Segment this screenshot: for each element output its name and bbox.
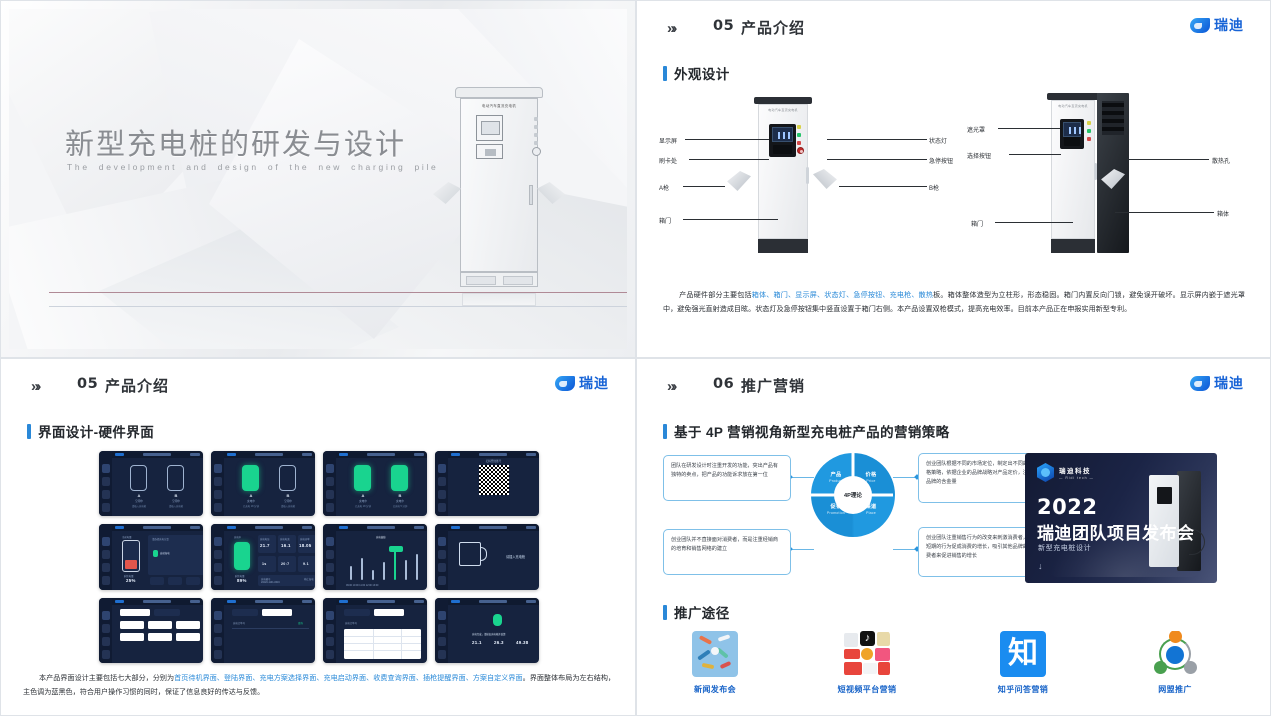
auto-fill-label: 自动充电 [160,551,170,555]
chevrons-icon: »› [667,20,674,37]
section-title: 产品介绍 [741,17,805,38]
poster-logo-mark-icon [1037,463,1054,482]
channel-label: 短视频平台营销 [811,684,923,695]
slide-product-appearance[interactable]: »› 05 产品介绍 瑞迪 外观设计 电动汽车直流充电机 显示屏 [636,0,1271,358]
strategy-box-promotion: 创业团队并不直接面对消费者，而是注重经销商的培育和销售网络的建立 [663,529,791,575]
product-angled-view: 电动汽车直流充电机 [1047,93,1099,253]
gun-a-icon [725,171,751,191]
channel-label: 新闻发布会 [659,684,771,695]
quadrant-place: 渠道 Place [856,505,886,515]
chevrons-icon: »› [31,378,38,395]
label-status-light: 状态灯 [929,136,947,145]
news-conference-icon [692,631,738,677]
section-number: 05 [713,18,734,34]
leader-line [683,186,725,187]
label-emergency-stop: 急停按钮 [929,156,953,165]
poster-brand-en: — Ridi tech — [1059,476,1094,480]
mockup-charging-metrics: 充电中 剩余电量 89% 充电电压 充电电流 充电功率 21.7 16.1 18… [211,524,315,589]
label-cabinet-door-right: 箱门 [971,219,983,228]
mockup-idle-home: A B 空闲中空闲中 请插入充电枪请插入充电枪 [99,451,203,516]
four-p-donut-chart: 产品 Product 价格 Price 促销 Promotion 渠道 Plac… [811,453,895,537]
mockup-plug-reminder: 请插入充电枪 [435,524,539,589]
device-label: 电动汽车直流充电机 [754,108,812,112]
zhihu-icon: 知 [1000,631,1046,677]
heading-accent-bar [663,66,667,81]
heading-accent-bar [663,424,667,439]
leader-line [1115,212,1214,213]
summary-1: 21.1 [472,640,482,645]
mockup-charge-complete: 充电完成，请拔出充电枪并结算 21.1 26.3 49.38 [435,598,539,663]
mockup-dual-charging: AB 充电中充电中 已充电 18 分钟已充电 5 分钟 [323,451,427,516]
event-poster[interactable]: 瑞迪科技 — Ridi tech — 2022 瑞迪团队项目发布会 新型充电桩设… [1025,453,1217,583]
poster-year: 2022 [1037,495,1097,519]
heading-text: 外观设计 [674,63,730,83]
logo-mark-icon [555,376,575,391]
logo-text: 瑞迪 [1214,15,1244,35]
ad-network-icon [1152,631,1198,677]
leader-line [1009,154,1061,155]
slide-paragraph: 产品硬件部分主要包括箱体、箱门、显示屏、状态灯、急停按钮、充电枪、散热板。箱体整… [663,289,1245,317]
leader-line [827,159,927,160]
heat-vent-icon [1102,101,1124,135]
strategy-box-product: 团队在研发设计时注重开发的功能，突出产品有独特的卖点，把产品的功能诉求放在第一位 [663,455,791,501]
mockup-charging-chart: 充电曲线 09:00 10:00 11:00 12:00 13:00 [323,524,427,589]
section-title: 产品介绍 [105,375,169,396]
label-select-button: 选择按钮 [967,151,991,160]
slide-header: »› 05 产品介绍 瑞迪 [1,359,635,405]
poster-subline: 新型充电桩设计 [1038,543,1091,553]
paragraph-highlight: 箱体、箱门、显示屏、状态灯、急停按钮、充电枪、散热 [752,291,933,299]
label-cabinet-door-left: 箱门 [659,216,671,225]
charging-nozzle-icon [459,542,481,566]
short-video-platforms-icon: ♪ [844,631,890,677]
summary-2: 26.3 [494,640,504,645]
label-sun-shield: 遮光罩 [967,125,985,134]
heading-accent-bar [663,605,667,620]
gun-b-label: B [165,493,187,498]
poster-headline: 瑞迪团队项目发布会 [1037,519,1195,544]
slide-title[interactable]: 新型充电桩的研发与设计 The development and design o… [0,0,636,358]
gun-icon [1099,169,1125,189]
page-subtitle: The development and design of the new ch… [67,162,438,172]
quadrant-price: 价格 Price [856,473,886,483]
summary-3: 49.38 [516,640,529,645]
leader-line [1127,159,1209,160]
leader-line [995,222,1073,223]
brand-logo: 瑞迪 [1190,373,1244,393]
slide-ui-design[interactable]: »› 05 产品介绍 瑞迪 界面设计-硬件界面 A B [0,358,636,716]
section-heading-strategy: 基于 4P 营销视角新型充电桩产品的营销策略 [663,421,950,441]
mockup-battery-status: 当前电量 剩余电量 25% 请选择充电方案 自动充电 [99,524,203,589]
section-number: 05 [77,376,98,392]
label-display-screen: 显示屏 [659,136,677,145]
channel-label: 知乎问答营销 [967,684,1079,695]
label-card-reader: 刷卡处 [659,156,677,165]
leader-line [998,128,1060,129]
label-heat-vent: 散热孔 [1212,156,1230,165]
channel-zhihu[interactable]: 知 知乎问答营销 [967,631,1079,695]
poster-logo: 瑞迪科技 — Ridi tech — [1037,463,1094,482]
channel-news-conference[interactable]: 新闻发布会 [659,631,771,695]
heading-text: 基于 4P 营销视角新型充电桩产品的营销策略 [674,421,950,441]
mockup-billing-query: 充电订单号 查询 [211,598,315,663]
channel-ad-network[interactable]: 网盟推广 [1119,631,1231,695]
battery-percent: 25% [126,578,136,583]
brand-logo: 瑞迪 [1190,15,1244,35]
gun-a-label: A [128,493,150,498]
qr-caption: 扫码登陆账号 [448,459,539,463]
mockup-plan-custom [99,598,203,663]
connector-line [790,549,814,550]
emergency-stop-icon [797,147,804,154]
device-label: 电动汽车直流充电机 [1047,104,1099,108]
heading-text: 推广途径 [674,602,730,622]
brand-logo: 瑞迪 [555,373,609,393]
chevrons-icon: »› [667,378,674,395]
product-front-view: 电动汽车直流充电机 [754,97,812,253]
slide-header: »› 06 推广营销 瑞迪 [637,359,1270,405]
qr-code-icon [479,465,509,495]
poster-brand: 瑞迪科技 [1059,465,1094,475]
logo-text: 瑞迪 [1214,373,1244,393]
slide-marketing[interactable]: »› 06 推广营销 瑞迪 基于 4P 营销视角新型充电桩产品的营销策略 产品 … [636,358,1271,716]
label-gun-a: A枪 [659,183,669,192]
charging-pile-illustration: 电动汽车直流充电机 [449,87,549,297]
title-slide-canvas: 新型充电桩的研发与设计 The development and design o… [9,9,627,349]
device-label: 电动汽车直流充电机 [469,104,529,109]
leader-line [683,219,778,220]
mockup-gun-selection: AB 充电中空闲中 已充电 18 分钟请插入充电枪 [211,451,315,516]
logo-mark-icon [1190,18,1210,33]
quadrant-promotion: 促销 Promotion [821,505,851,515]
zhihu-glyph: 知 [1008,639,1038,669]
section-heading-channels: 推广途径 [663,602,730,622]
voltage-value: 21.7 [260,543,270,548]
battery-percent: 89% [237,578,247,583]
quadrant-product: 产品 Product [821,473,851,483]
power-value: 18.05 [299,543,312,548]
paragraph-prefix: 产品硬件部分主要包括 [679,291,752,299]
label-cabinet-body: 箱体 [1217,209,1229,218]
gun-b-icon [813,169,839,189]
paragraph-highlight: 首页待机界面、登陆界面、充电方案选择界面、充电启动界面、收费查询界面、插枪提醒界… [174,674,522,682]
heading-text: 界面设计-硬件界面 [38,421,154,441]
logo-text: 瑞迪 [579,373,609,393]
leader-line [685,139,769,140]
page-title: 新型充电桩的研发与设计 [65,121,406,163]
channel-short-video[interactable]: ♪ 短视频平台营销 [811,631,923,695]
logo-mark-icon [1190,376,1210,391]
paragraph-prefix: 本产品界面设计主要包括七大部分，分别为 [39,674,174,682]
mockup-qr-login: 扫码登陆账号 [435,451,539,516]
slide-paragraph: 本产品界面设计主要包括七大部分，分别为首页待机界面、登陆界面、充电方案选择界面、… [23,672,615,700]
heading-accent-bar [27,424,31,439]
leader-line [839,186,927,187]
ui-mockup-grid: A B 空闲中空闲中 请插入充电枪请插入充电枪 AB 充电中空闲中 已充电 18… [99,451,539,663]
poster-down-arrow-icon: ↓ [1038,561,1043,571]
section-heading: 界面设计-硬件界面 [27,421,154,441]
section-number: 06 [713,376,734,392]
divider-secondary [49,306,627,307]
current-value: 16.1 [281,543,291,548]
leader-line [827,139,927,140]
slide-header: »› 05 产品介绍 瑞迪 [637,1,1270,47]
channel-label: 网盟推广 [1119,684,1231,695]
section-heading: 外观设计 [663,63,730,83]
label-gun-b: B枪 [929,183,939,192]
leader-line [689,159,769,160]
slide-deck: 新型充电桩的研发与设计 The development and design o… [0,0,1271,716]
complete-icon [493,614,502,626]
mockup-billing-table: 充电订单号 [323,598,427,663]
section-title: 推广营销 [741,375,805,396]
connector-line [790,477,814,478]
